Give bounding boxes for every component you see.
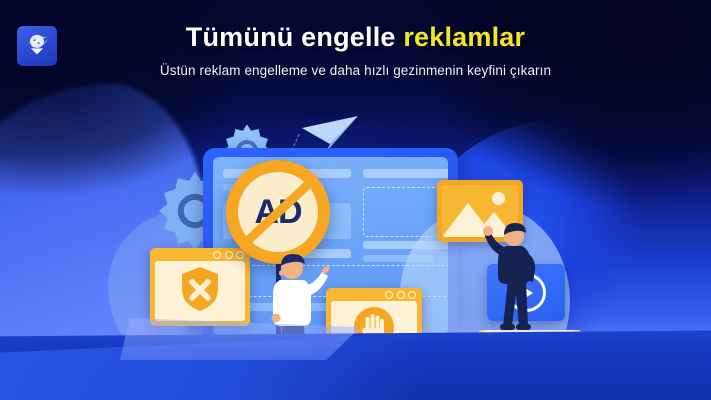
page-subtitle: Üstün reklam engelleme ve daha hızlı gez…: [0, 63, 711, 78]
card-body: [155, 261, 245, 321]
title-main: Tümünü engelle: [186, 22, 396, 52]
window-dots: [385, 291, 416, 299]
promo-banner: AD: [0, 0, 711, 400]
card-titlebar: [326, 288, 422, 300]
person-on-books: [482, 222, 552, 338]
shield-x-icon: [180, 266, 220, 317]
title-highlight: reklamlar: [403, 22, 525, 52]
page-title: Tümünü engelle reklamlar: [0, 22, 711, 53]
